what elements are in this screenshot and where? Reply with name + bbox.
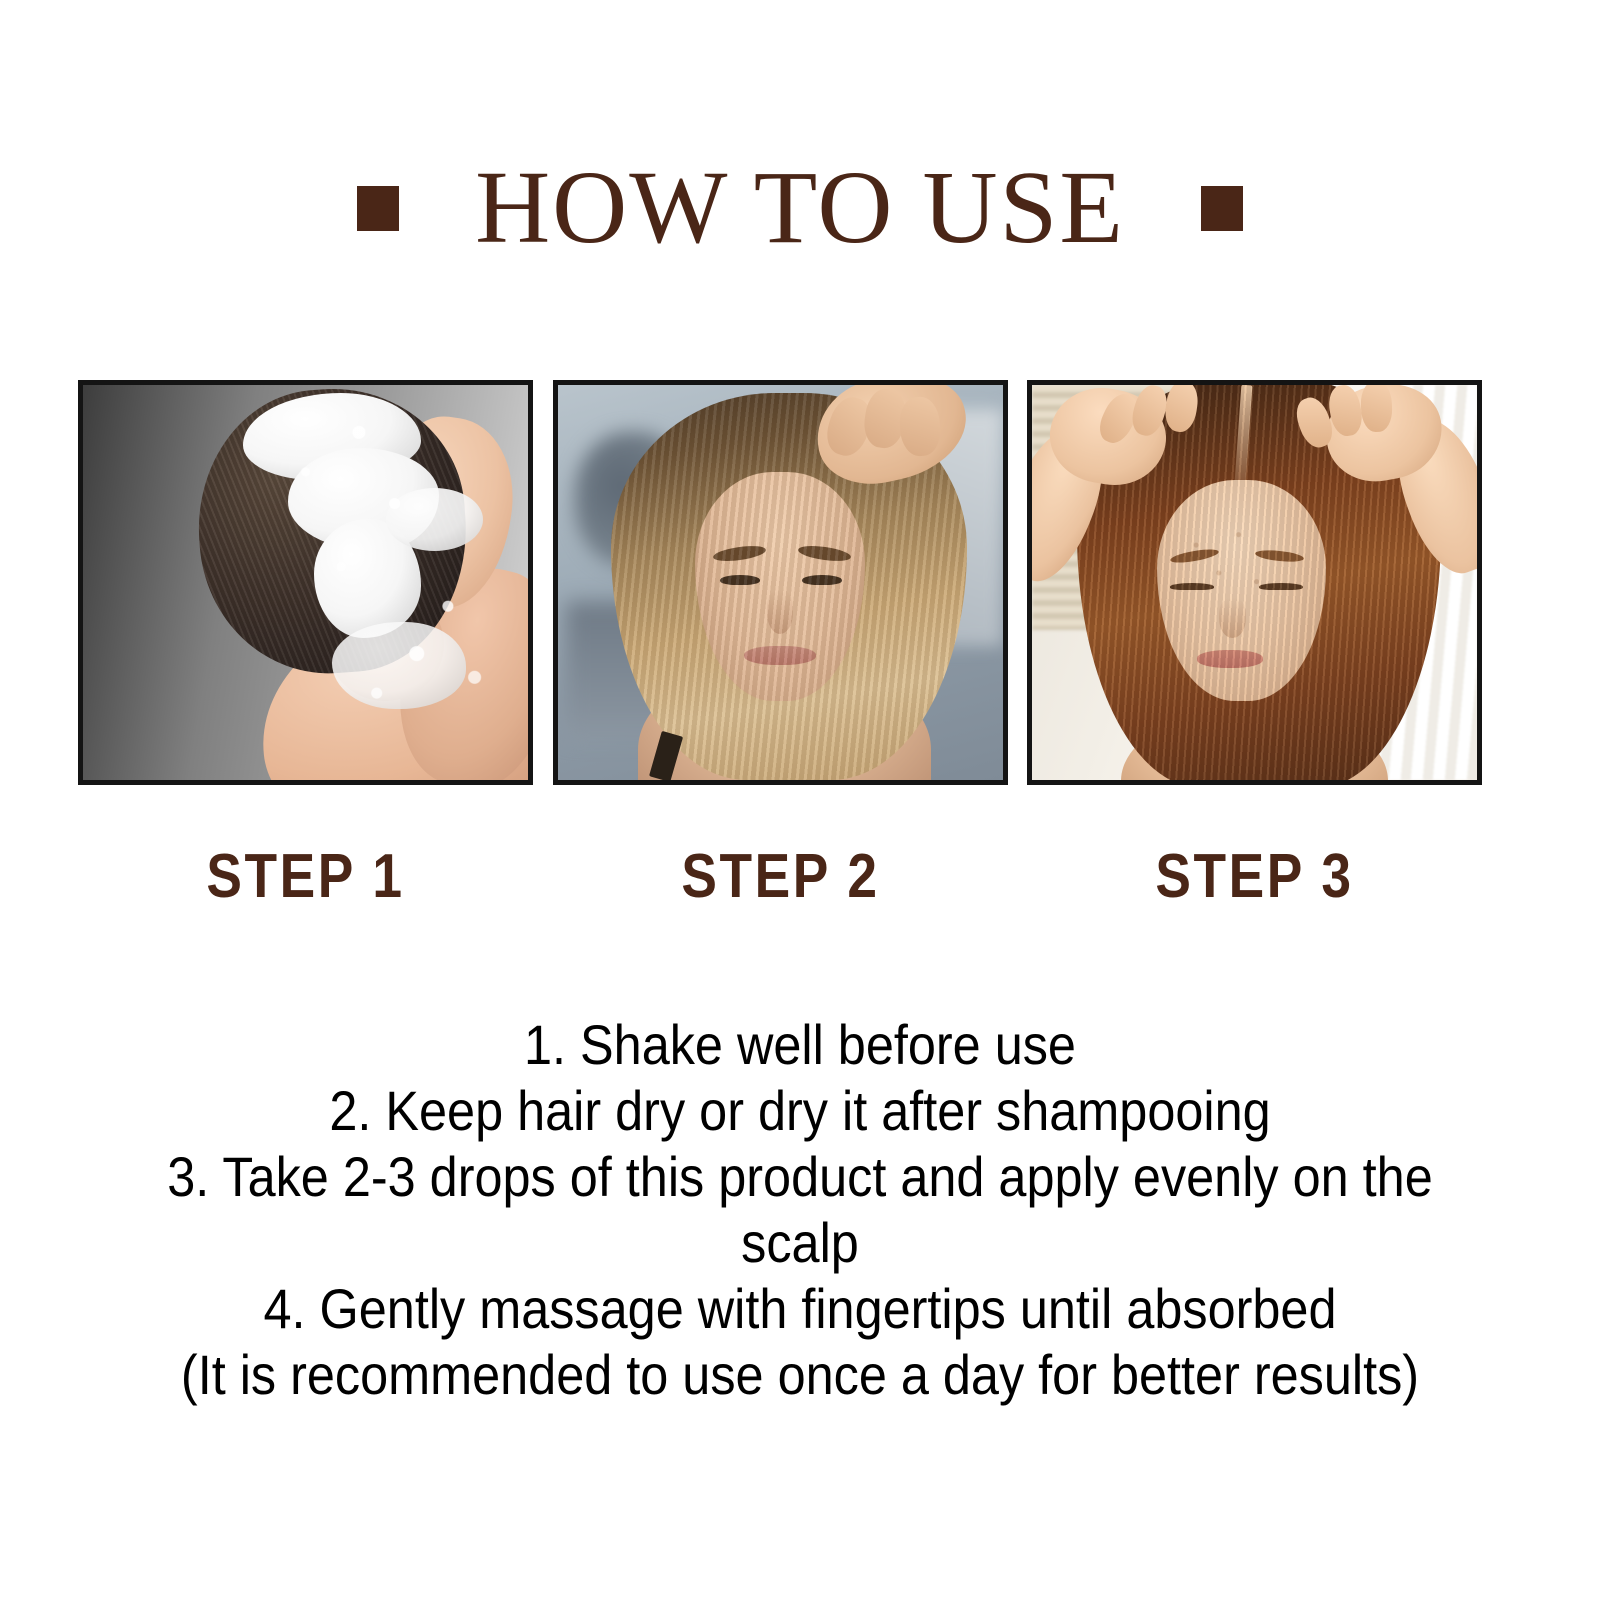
dry-hair-photo [558, 385, 1003, 780]
square-bullet-icon-right [1201, 186, 1243, 231]
step-2-label: STEP 2 [584, 846, 975, 908]
step-3-image [1027, 380, 1482, 785]
instruction-line-2: 2. Keep hair dry or dry it after shampoo… [134, 1078, 1466, 1144]
step-1-label: STEP 1 [110, 846, 501, 908]
page-header: HOW TO USE [0, 148, 1600, 268]
step-3-label: STEP 3 [1059, 846, 1450, 908]
shampoo-lather-photo [83, 385, 528, 780]
instruction-line-5: (It is recommended to use once a day for… [134, 1342, 1466, 1408]
step-1-image [78, 380, 533, 785]
scalp-massage-photo [1032, 385, 1477, 780]
page-title: HOW TO USE [475, 156, 1125, 260]
step-image-row [78, 380, 1482, 785]
instruction-line-4: 4. Gently massage with fingertips until … [134, 1276, 1466, 1342]
instruction-line-3-cont: scalp [134, 1210, 1466, 1276]
step-label-row: STEP 1 STEP 2 STEP 3 [78, 846, 1482, 908]
instructions-block: 1. Shake well before use 2. Keep hair dr… [60, 1012, 1540, 1408]
instruction-line-3: 3. Take 2-3 drops of this product and ap… [134, 1144, 1466, 1210]
how-to-use-infographic: HOW TO USE [0, 0, 1600, 1600]
square-bullet-icon-left [357, 186, 399, 231]
instruction-line-1: 1. Shake well before use [134, 1012, 1466, 1078]
step-2-image [553, 380, 1008, 785]
foam-bubbles [83, 385, 528, 780]
